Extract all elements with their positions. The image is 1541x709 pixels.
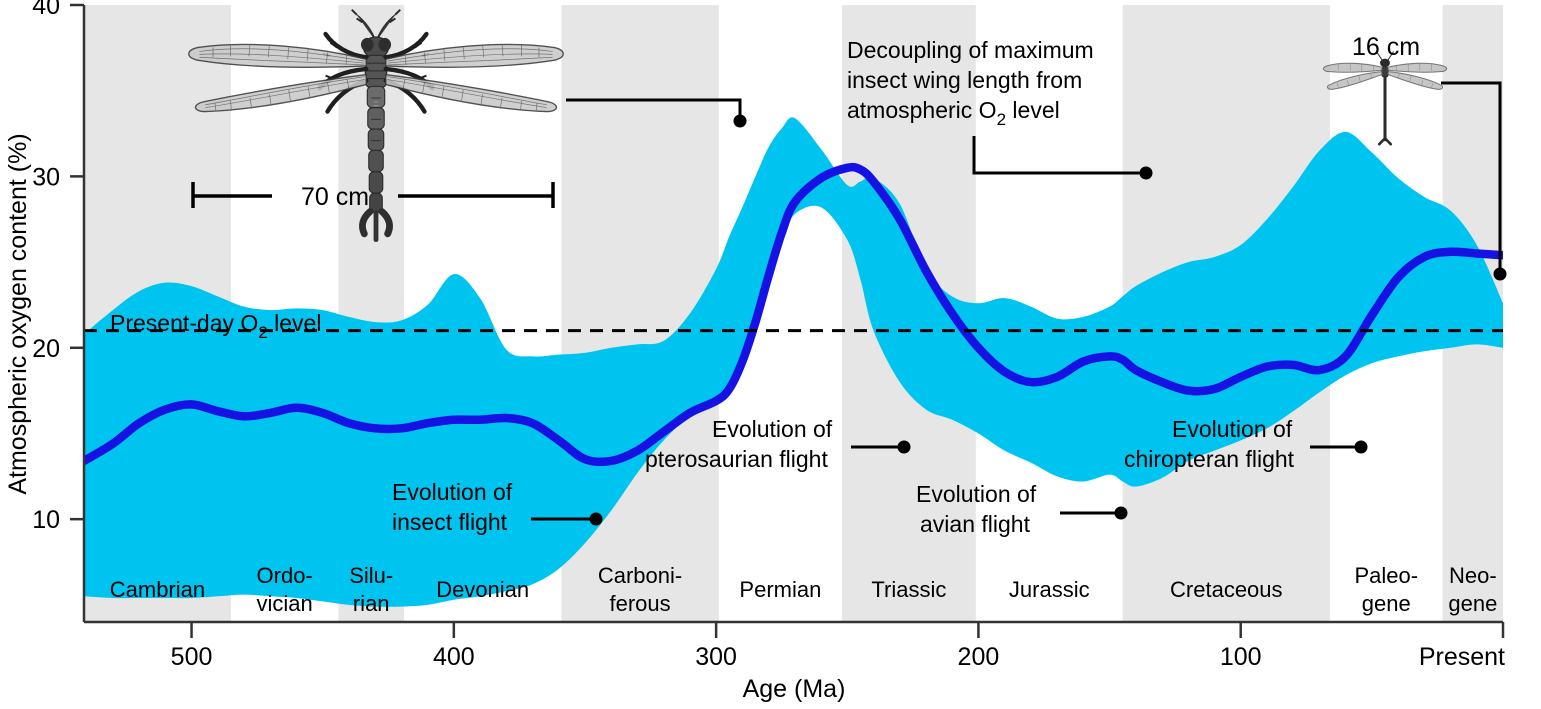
annotation-decoupling-leader xyxy=(974,136,1141,173)
oxygen-timeline-chart: 10203040 500400300200100Present Cambrian… xyxy=(0,0,1541,709)
annotation-decoupling-line3-tail: level xyxy=(1006,97,1060,123)
period-label-line2: gene xyxy=(1448,591,1497,616)
present-day-label-main: Present-day O xyxy=(110,310,258,336)
annotation-avian-flight-line1: Evolution of xyxy=(916,481,1037,507)
period-label: Neo- xyxy=(1449,563,1497,588)
y-tick-label: 20 xyxy=(32,335,60,363)
x-tick-label: 300 xyxy=(695,643,737,671)
x-tick-label: 400 xyxy=(433,643,475,671)
x-tick-label: Present xyxy=(1419,643,1505,671)
annotation-insect-flight-line1: Evolution of xyxy=(392,479,513,505)
period-label: Silu- xyxy=(349,563,393,588)
period-label: Carboni- xyxy=(598,563,682,588)
y-tick-label: 40 xyxy=(32,0,60,20)
annotation-insect-flight-line2: insect flight xyxy=(392,509,508,535)
x-tick-label: 100 xyxy=(1220,643,1262,671)
annotation-decoupling-line3-sub: 2 xyxy=(997,110,1006,129)
period-label: Jurassic xyxy=(1009,577,1090,602)
period-label: Cretaceous xyxy=(1170,577,1283,602)
period-label-line2: vician xyxy=(257,591,313,616)
annotation-pterosaurian-flight-line1: Evolution of xyxy=(712,416,833,442)
meganeura-leader-dot xyxy=(734,115,747,128)
meganeura-scale-label: 70 cm xyxy=(301,183,369,211)
annotation-decoupling-dot xyxy=(1140,167,1153,180)
annotation-decoupling-line2: insect wing length from xyxy=(847,67,1082,93)
y-axis-title: Atmospheric oxygen content (%) xyxy=(4,133,32,494)
modern-dragonfly-leader-dot xyxy=(1494,268,1507,281)
x-tick-label: 500 xyxy=(171,643,213,671)
x-tick-label: 200 xyxy=(958,643,1000,671)
y-tick-label: 10 xyxy=(32,506,60,534)
present-day-label-sub: 2 xyxy=(258,323,267,342)
y-axis-ticks: 10203040 xyxy=(32,0,84,534)
period-label: Devonian xyxy=(436,577,529,602)
present-day-label-tail: level xyxy=(268,310,322,336)
y-tick-label: 30 xyxy=(32,163,60,191)
period-label-line2: gene xyxy=(1362,591,1411,616)
period-label-line2: rian xyxy=(353,591,390,616)
annotation-decoupling-line3: atmospheric O xyxy=(847,97,997,123)
x-axis-title: Age (Ma) xyxy=(743,675,846,703)
annotation-avian-flight-line2: avian flight xyxy=(920,511,1031,537)
annotation-chiropteran-flight-dot xyxy=(1355,441,1368,454)
annotation-chiropteran-flight-line2: chiropteran flight xyxy=(1124,446,1295,472)
period-label: Triassic xyxy=(871,577,946,602)
period-label: Permian xyxy=(739,577,821,602)
x-axis-ticks: 500400300200100Present xyxy=(171,622,1505,671)
period-label: Cambrian xyxy=(110,577,205,602)
period-label: Ordo- xyxy=(257,563,313,588)
figure-root: 10203040 500400300200100Present Cambrian… xyxy=(0,0,1541,709)
modern-dragonfly-scale-label: 16 cm xyxy=(1352,33,1420,61)
annotation-pterosaurian-flight-line2: pterosaurian flight xyxy=(645,446,828,472)
annotation-insect-flight-dot xyxy=(590,513,603,526)
period-label-line2: ferous xyxy=(609,591,670,616)
annotation-pterosaurian-flight-dot xyxy=(898,441,911,454)
annotation-decoupling-line1: Decoupling of maximum xyxy=(847,37,1094,63)
period-label: Paleo- xyxy=(1354,563,1418,588)
annotation-chiropteran-flight-line1: Evolution of xyxy=(1172,416,1293,442)
annotation-avian-flight-dot xyxy=(1115,507,1128,520)
